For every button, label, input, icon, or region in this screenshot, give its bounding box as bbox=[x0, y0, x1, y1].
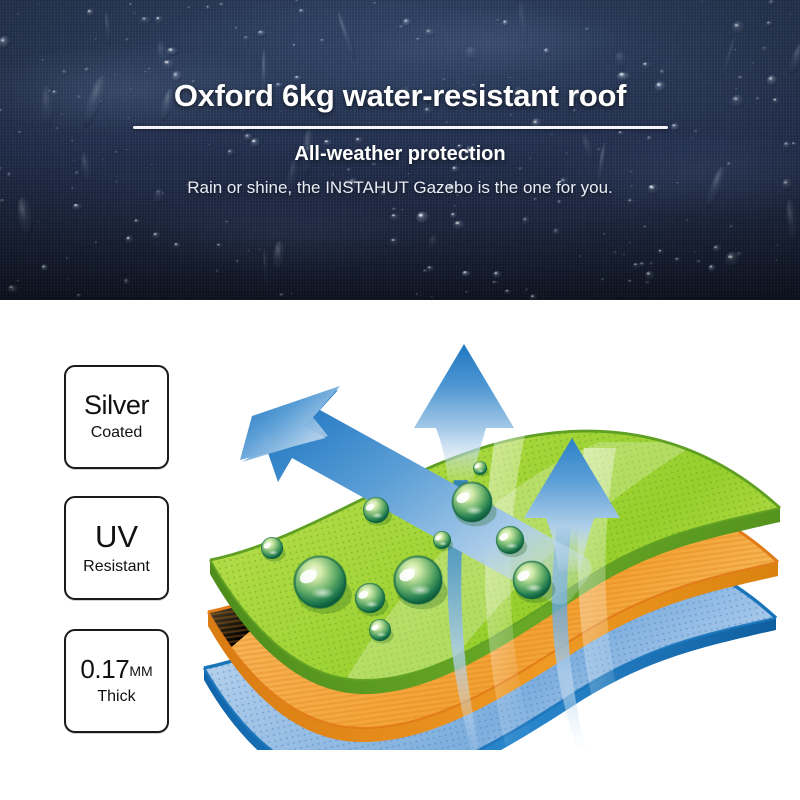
feature-thickness-main: 0.17MM bbox=[80, 656, 152, 683]
feature-box-silver: Silver Coated bbox=[64, 365, 169, 469]
hero-banner: Oxford 6kg water-resistant roof All-weat… bbox=[0, 0, 800, 300]
feature-silver-sub: Coated bbox=[91, 424, 143, 442]
title-divider bbox=[133, 126, 668, 129]
feature-thickness-sub: Thick bbox=[97, 688, 135, 706]
feature-thickness-unit: MM bbox=[129, 663, 152, 679]
feature-box-uv: UV Resistant bbox=[64, 496, 169, 600]
hero-subtitle: All-weather protection bbox=[0, 143, 800, 166]
hero-tagline: Rain or shine, the INSTAHUT Gazebo is th… bbox=[0, 178, 800, 198]
feature-uv-main: UV bbox=[95, 521, 138, 553]
page-title: Oxford 6kg water-resistant roof bbox=[0, 78, 800, 114]
hero-content: Oxford 6kg water-resistant roof All-weat… bbox=[0, 0, 800, 300]
fabric-layers-illustration bbox=[180, 330, 800, 750]
feature-uv-sub: Resistant bbox=[83, 558, 150, 576]
feature-box-thickness: 0.17MM Thick bbox=[64, 629, 169, 733]
feature-silver-main: Silver bbox=[84, 392, 149, 420]
